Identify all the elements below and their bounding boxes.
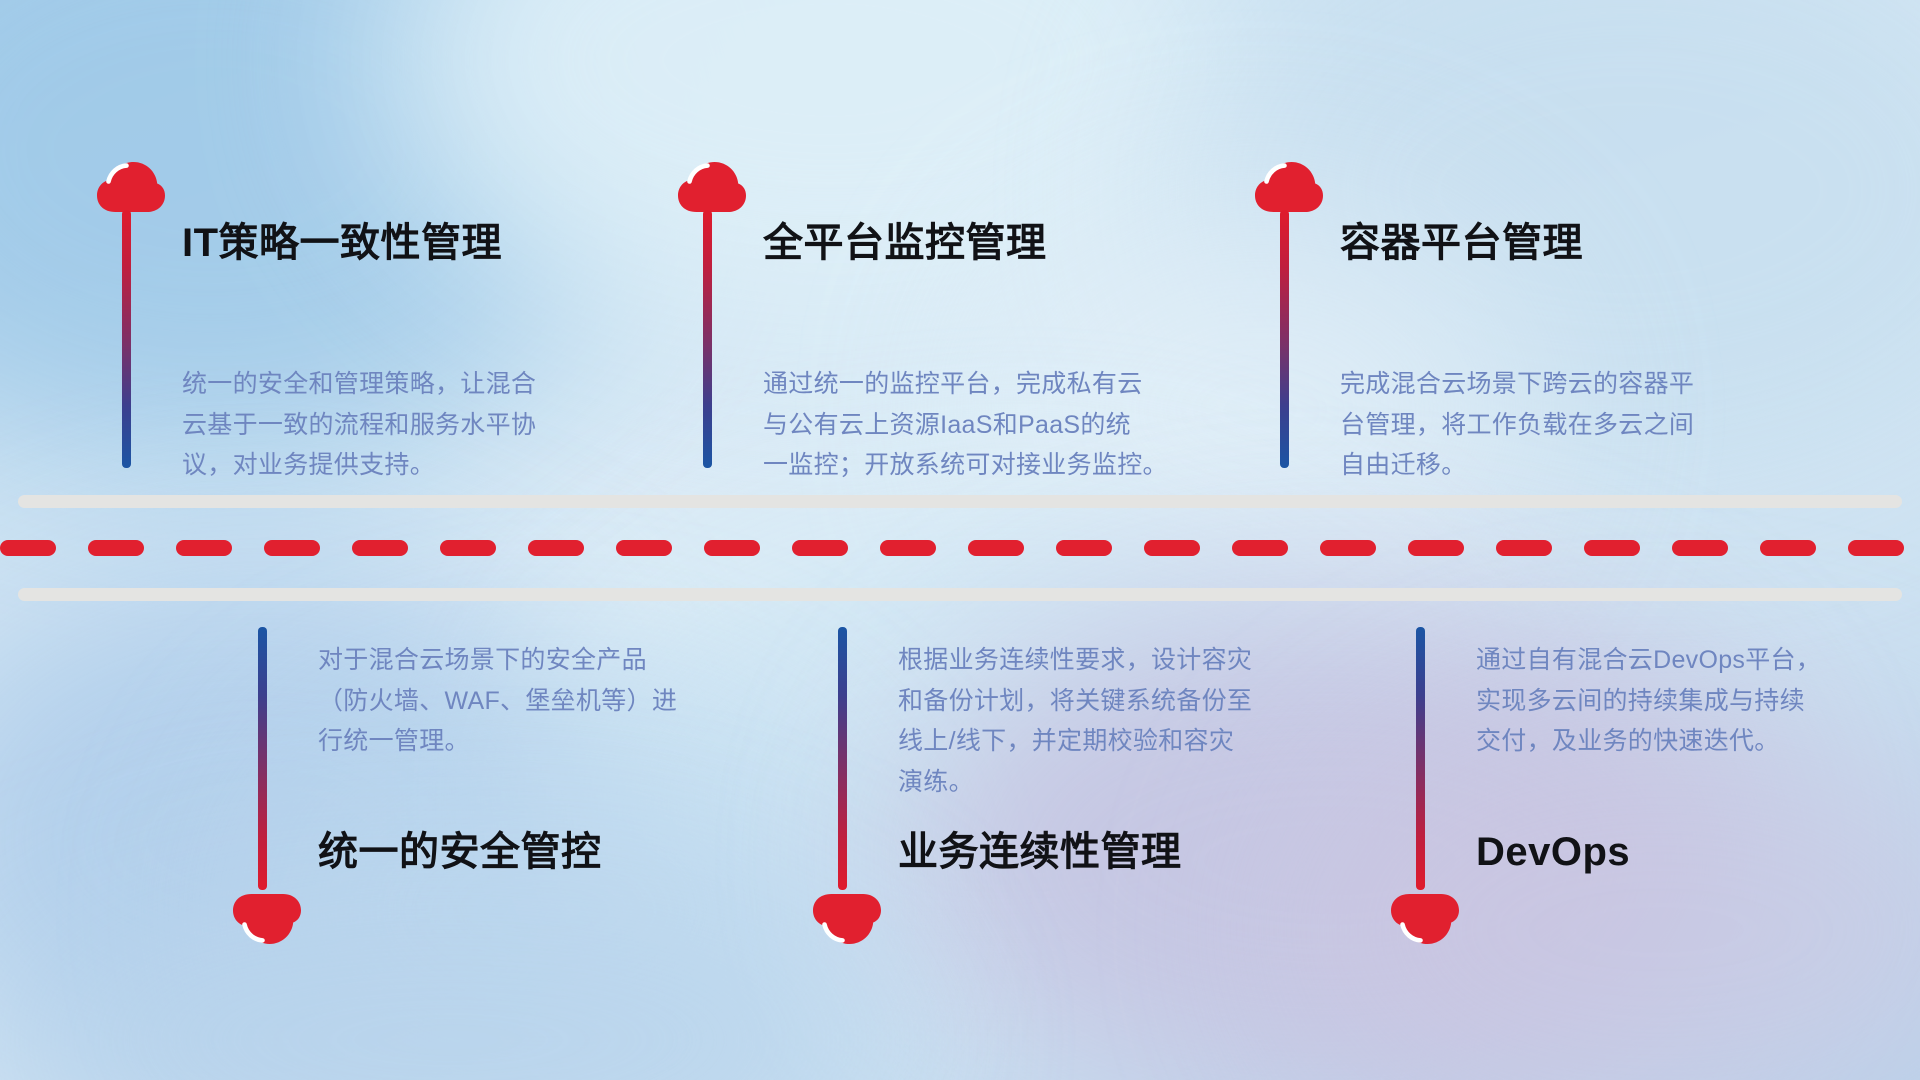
divider-dash — [1848, 540, 1904, 556]
description-line: 对于混合云场景下的安全产品 — [318, 640, 748, 681]
divider-rail-top — [18, 495, 1902, 508]
divider-dash — [264, 540, 320, 556]
timeline-stem — [122, 210, 131, 468]
divider-dash — [704, 540, 760, 556]
timeline-stem — [1280, 210, 1289, 468]
item-title: 全平台监控管理 — [763, 223, 1047, 263]
divider-dash — [616, 540, 672, 556]
description-line: 实现多云间的持续集成与持续 — [1476, 681, 1906, 722]
divider-dash — [880, 540, 936, 556]
divider-dash — [0, 540, 56, 556]
divider-dash — [88, 540, 144, 556]
divider-dash — [1496, 540, 1552, 556]
description-line: 议，对业务提供支持。 — [182, 445, 612, 486]
infographic-canvas: IT策略一致性管理 统一的安全和管理策略，让混合 云基于一致的流程和服务水平协 … — [0, 0, 1920, 1080]
description-line: 通过自有混合云DevOps平台， — [1476, 640, 1906, 681]
description-line: （防火墙、WAF、堡垒机等）进 — [318, 681, 748, 722]
description-line: 通过统一的监控平台，完成私有云 — [763, 364, 1193, 405]
item-title: 统一的安全管控 — [318, 832, 602, 872]
divider-dash — [528, 540, 584, 556]
divider-dash — [352, 540, 408, 556]
item-description: 通过统一的监控平台，完成私有云 与公有云上资源IaaS和PaaS的统 一监控；开… — [763, 364, 1193, 486]
timeline-stem — [258, 627, 267, 890]
divider-dash — [1320, 540, 1376, 556]
cloud-icon — [95, 160, 167, 214]
description-line: 行统一管理。 — [318, 721, 748, 762]
item-title: DevOps — [1476, 832, 1630, 872]
divider-dash — [1232, 540, 1288, 556]
description-line: 完成混合云场景下跨云的容器平 — [1340, 364, 1770, 405]
description-line: 自由迁移。 — [1340, 445, 1770, 486]
cloud-icon — [676, 160, 748, 214]
item-description: 统一的安全和管理策略，让混合 云基于一致的流程和服务水平协 议，对业务提供支持。 — [182, 364, 612, 486]
description-line: 与公有云上资源IaaS和PaaS的统 — [763, 405, 1193, 446]
divider-dash — [176, 540, 232, 556]
divider-dash — [968, 540, 1024, 556]
item-title: 容器平台管理 — [1340, 223, 1583, 263]
divider-dash — [1056, 540, 1112, 556]
item-title: 业务连续性管理 — [898, 832, 1182, 872]
item-title: IT策略一致性管理 — [182, 223, 502, 263]
divider-dash — [1408, 540, 1464, 556]
description-line: 交付，及业务的快速迭代。 — [1476, 721, 1906, 762]
divider-dash — [1584, 540, 1640, 556]
item-description: 对于混合云场景下的安全产品 （防火墙、WAF、堡垒机等）进 行统一管理。 — [318, 640, 748, 762]
divider-dash — [1672, 540, 1728, 556]
divider-dash — [440, 540, 496, 556]
divider-dash — [792, 540, 848, 556]
cloud-icon — [1389, 892, 1461, 946]
description-line: 一监控；开放系统可对接业务监控。 — [763, 445, 1193, 486]
description-line: 台管理，将工作负载在多云之间 — [1340, 405, 1770, 446]
item-description: 通过自有混合云DevOps平台， 实现多云间的持续集成与持续 交付，及业务的快速… — [1476, 640, 1906, 762]
description-line: 演练。 — [898, 762, 1328, 803]
item-description: 完成混合云场景下跨云的容器平 台管理，将工作负载在多云之间 自由迁移。 — [1340, 364, 1770, 486]
divider-dash — [1760, 540, 1816, 556]
description-line: 线上/线下，并定期校验和容灾 — [898, 721, 1328, 762]
timeline-stem — [1416, 627, 1425, 890]
description-line: 统一的安全和管理策略，让混合 — [182, 364, 612, 405]
divider-dash — [1144, 540, 1200, 556]
timeline-stem — [838, 627, 847, 890]
description-line: 云基于一致的流程和服务水平协 — [182, 405, 612, 446]
cloud-icon — [1253, 160, 1325, 214]
divider-rail-bottom — [18, 588, 1902, 601]
item-description: 根据业务连续性要求，设计容灾 和备份计划，将关键系统备份至 线上/线下，并定期校… — [898, 640, 1328, 802]
divider-dashed-line — [0, 540, 1920, 556]
description-line: 和备份计划，将关键系统备份至 — [898, 681, 1328, 722]
timeline-stem — [703, 210, 712, 468]
description-line: 根据业务连续性要求，设计容灾 — [898, 640, 1328, 681]
cloud-icon — [811, 892, 883, 946]
cloud-icon — [231, 892, 303, 946]
